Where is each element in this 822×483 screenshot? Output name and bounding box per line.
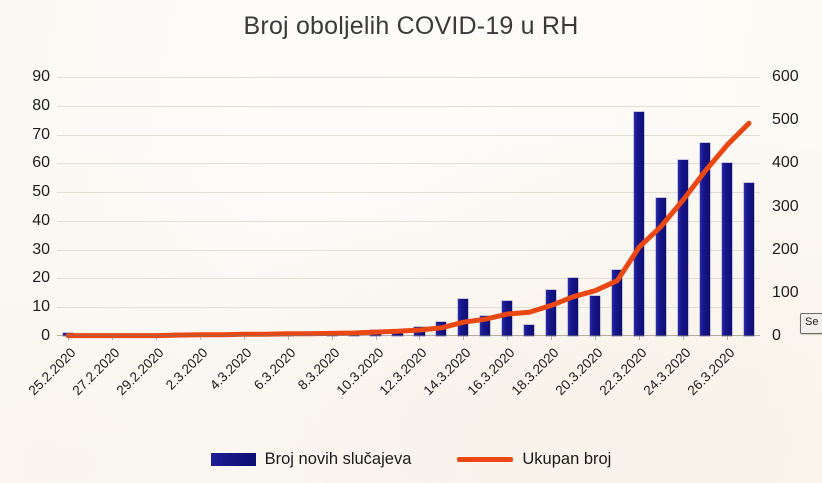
y-axis-left-tick: 20 — [4, 269, 50, 287]
y-axis-left-tick: 0 — [4, 327, 50, 345]
x-axis-tickmark — [463, 336, 464, 340]
x-axis-tickmark — [68, 336, 69, 340]
y-axis-left-tick: 80 — [4, 97, 50, 115]
x-axis-tickmark — [639, 336, 640, 340]
y-axis-left-tick: 90 — [4, 68, 50, 86]
legend-label-new-cases: Broj novih slučajeva — [265, 450, 412, 469]
x-axis-tickmark — [332, 336, 333, 340]
total-cases-line — [68, 123, 749, 335]
chart-legend: Broj novih slučajeva Ukupan broj — [0, 450, 822, 469]
x-axis-baseline — [57, 335, 760, 336]
y-axis-right-tick: 600 — [772, 68, 822, 86]
x-axis-tickmark — [507, 336, 508, 340]
x-axis-tickmark — [727, 336, 728, 340]
y-axis-left-tick: 10 — [4, 298, 50, 316]
y-axis-left-tick: 50 — [4, 183, 50, 201]
chart-title: Broj oboljelih COVID-19 u RH — [0, 12, 822, 41]
y-axis-right-tick: 300 — [772, 198, 822, 216]
x-axis-tickmark — [376, 336, 377, 340]
x-axis-tickmark — [595, 336, 596, 340]
y-axis-left-tick: 70 — [4, 126, 50, 144]
legend-label-total: Ukupan broj — [522, 450, 611, 469]
x-axis-tickmark — [551, 336, 552, 340]
plot-area — [57, 77, 760, 336]
legend-swatch-line-icon — [457, 457, 513, 462]
x-axis-tickmark — [156, 336, 157, 340]
y-axis-right-tick: 500 — [772, 111, 822, 129]
y-axis-right-tick: 200 — [772, 241, 822, 259]
x-axis-tickmark — [200, 336, 201, 340]
x-axis-tickmark — [244, 336, 245, 340]
y-axis-right-tick: 100 — [772, 284, 822, 302]
legend-item-new-cases: Broj novih slučajeva — [211, 450, 412, 469]
y-axis-left-tick: 60 — [4, 154, 50, 172]
legend-item-total: Ukupan broj — [457, 450, 611, 469]
y-axis-right-tick: 400 — [772, 154, 822, 172]
y-axis-left-tick: 40 — [4, 212, 50, 230]
x-axis-tickmark — [683, 336, 684, 340]
x-axis-tickmark — [288, 336, 289, 340]
series-options-button[interactable]: Se — [800, 313, 822, 334]
y-axis-left-tick: 30 — [4, 241, 50, 259]
line-series — [57, 77, 760, 336]
x-axis-tickmark — [419, 336, 420, 340]
x-axis-tickmark — [112, 336, 113, 340]
legend-swatch-bar-icon — [211, 453, 256, 466]
